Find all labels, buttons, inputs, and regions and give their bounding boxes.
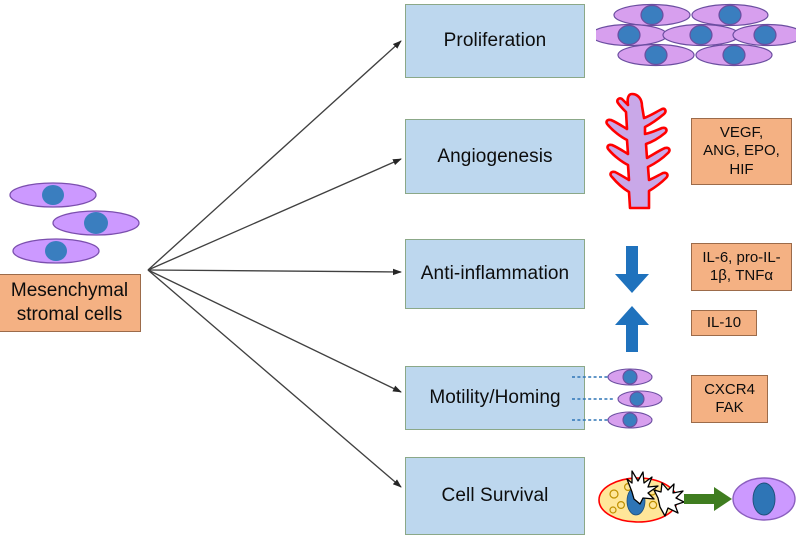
- process-label-angiogenesis: Angiogenesis: [437, 146, 552, 168]
- process-label-motility-homing: Motility/Homing: [429, 387, 560, 409]
- process-box-proliferation[interactable]: Proliferation: [405, 4, 585, 78]
- proliferating-cell-cluster-illustration: [596, 2, 796, 78]
- process-box-cell-survival[interactable]: Cell Survival: [405, 457, 585, 535]
- factor-line-1: VEGF,: [720, 124, 763, 141]
- homing-line-2: FAK: [715, 399, 743, 416]
- source-label-line1: Mesenchymal: [11, 280, 128, 301]
- factor-line-2: ANG, EPO,: [703, 142, 780, 159]
- arrow-to-proliferation: [148, 41, 401, 270]
- factor-line-3: HIF: [729, 161, 753, 178]
- arrow-to-cell-survival: [148, 270, 401, 487]
- arrow-to-motility-homing: [148, 270, 401, 392]
- factor-box-angiogenic-factors[interactable]: VEGF, ANG, EPO, HIF: [691, 118, 792, 185]
- factor-box-anti-inflammatory-cytokine[interactable]: IL-10: [691, 310, 757, 336]
- factor-box-homing-molecules[interactable]: CXCR4 FAK: [691, 375, 768, 423]
- process-label-anti-inflammation: Anti-inflammation: [421, 263, 569, 285]
- up-arrow-icon: [612, 305, 652, 353]
- cytokine-line-2: 1β, TNFα: [710, 267, 773, 284]
- source-box-mesenchymal-stromal-cells[interactable]: Mesenchymal stromal cells: [0, 274, 141, 332]
- blood-vessel-illustration: [592, 92, 676, 210]
- factor-box-pro-inflammatory-cytokines[interactable]: IL-6, pro-IL- 1β, TNFα: [691, 243, 792, 291]
- mesenchymal-stromal-cell-illustration: [8, 182, 148, 264]
- msc-effects-diagram: Mesenchymal stromal cells Proliferation …: [0, 0, 800, 540]
- green-transition-arrow: [684, 487, 732, 511]
- process-box-motility-homing[interactable]: Motility/Homing: [405, 366, 585, 430]
- process-label-cell-survival: Cell Survival: [442, 485, 549, 507]
- apoptotic-cell: [599, 471, 684, 522]
- healthy-cell: [733, 478, 795, 520]
- process-label-proliferation: Proliferation: [444, 30, 547, 52]
- source-label-line2: stromal cells: [17, 304, 123, 325]
- homing-line-1: CXCR4: [704, 381, 755, 398]
- arrow-to-angiogenesis: [148, 159, 401, 270]
- cytokine-line-1: IL-6, pro-IL-: [702, 249, 780, 266]
- migrating-cells-illustration: [570, 368, 680, 432]
- arrow-to-anti-inflammation: [148, 270, 401, 272]
- down-arrow-icon: [612, 246, 652, 294]
- apoptotic-to-healthy-cell-illustration: [596, 458, 796, 532]
- process-box-anti-inflammation[interactable]: Anti-inflammation: [405, 239, 585, 309]
- process-box-angiogenesis[interactable]: Angiogenesis: [405, 119, 585, 194]
- il10-label: IL-10: [707, 314, 741, 332]
